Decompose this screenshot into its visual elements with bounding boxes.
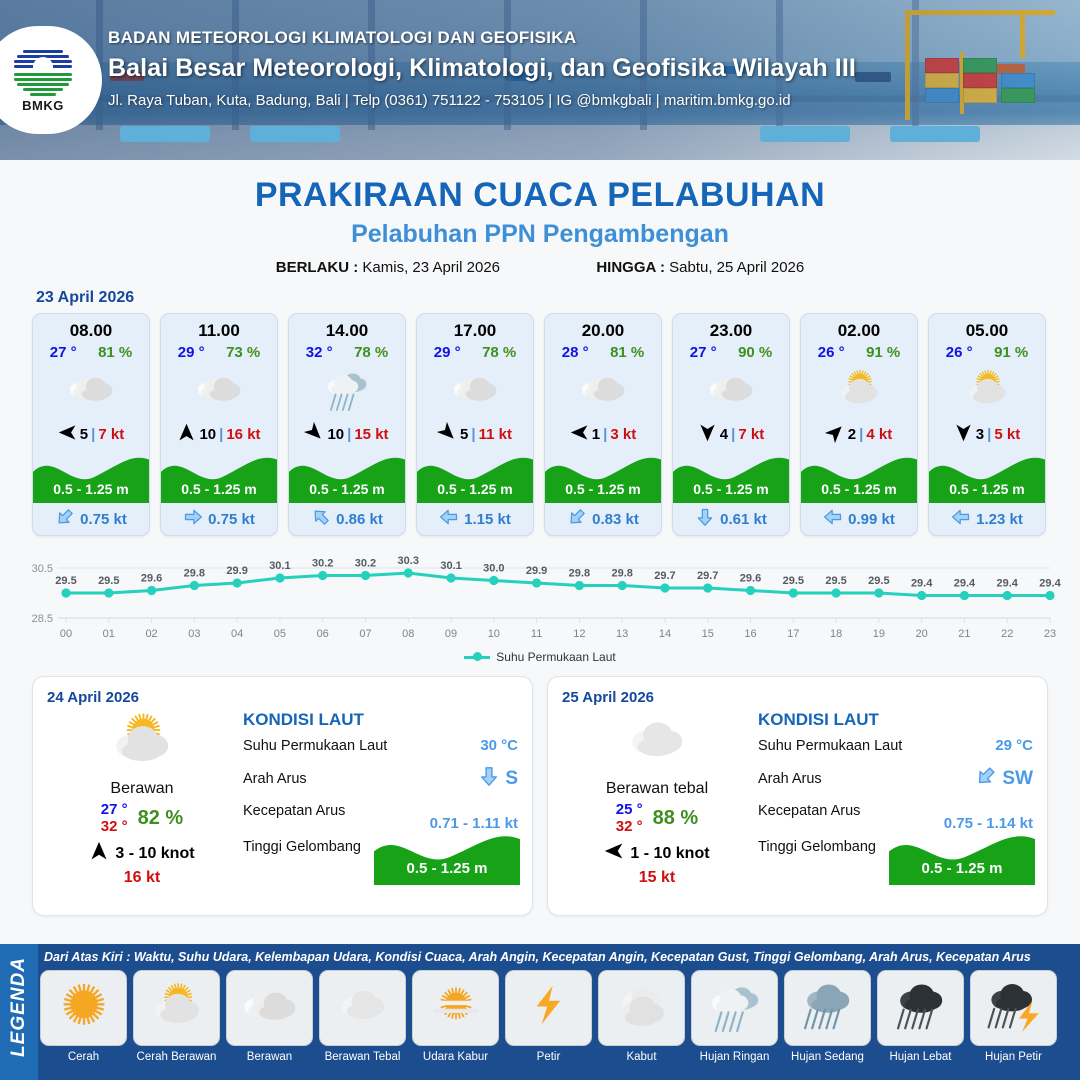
svg-text:10: 10 <box>488 628 500 640</box>
svg-text:30.3: 30.3 <box>398 555 419 567</box>
card-temp-humidity-row: 26 ° 91 % <box>929 341 1045 361</box>
wind-speed: 5 <box>80 426 88 443</box>
legend-sidebar-title: LEGENDA <box>8 952 30 1062</box>
day-summary: Berawan tebal 25 ° 32 ° 88 % 1 - 10 knot… <box>562 710 752 887</box>
svg-text:29.7: 29.7 <box>697 570 718 582</box>
current-speed: 1.23 kt <box>976 511 1023 528</box>
wind-speed: 3 <box>976 426 984 443</box>
bmkg-logo-mark <box>14 48 72 96</box>
card-current-row: 0.86 kt <box>289 503 405 535</box>
forecast-card[interactable]: 20.00 28 ° 81 % 1 | 3 kt 0.5 - 1.25 m <box>544 313 662 536</box>
weather-berawan-icon <box>545 363 661 419</box>
current-direction-value-group: SW <box>975 765 1033 792</box>
day-date: 25 April 2026 <box>562 689 1033 706</box>
legend-hujan-lebat-icon <box>877 970 964 1046</box>
sea-condition-block: KONDISI LAUT Suhu Permukaan Laut 29 °C A… <box>752 710 1033 887</box>
day-temp-min: 25 ° <box>616 801 643 818</box>
legend-item-label: Berawan Tebal <box>319 1051 406 1063</box>
day-condition: Berawan <box>47 780 237 798</box>
card-humidity: 78 % <box>482 344 516 361</box>
wind-gust-separator: | <box>987 426 991 443</box>
day-temperature-block: 25 ° 32 ° 88 % <box>562 801 752 835</box>
svg-text:17: 17 <box>787 628 799 640</box>
current-direction-S-icon <box>695 507 715 531</box>
current-speed: 0.83 kt <box>592 511 639 528</box>
wave-height: 0.5 - 1.25 m <box>929 481 1045 497</box>
legend-item: Udara Kabur <box>412 970 499 1063</box>
card-temperature: 26 ° <box>946 344 973 361</box>
current-speed-label: Kecepatan Arus <box>243 803 345 819</box>
wave-label: Tinggi Gelombang <box>243 839 361 855</box>
weather-cerah-berawan-icon <box>47 710 237 776</box>
card-wind-row: 1 | 3 kt <box>545 419 661 449</box>
svg-text:29.5: 29.5 <box>98 575 119 587</box>
terminal-seat <box>890 126 980 142</box>
sea-condition-title: KONDISI LAUT <box>758 710 1033 730</box>
legend-sidebar: LEGENDA <box>0 944 38 1080</box>
svg-text:20: 20 <box>916 628 928 640</box>
card-temp-humidity-row: 27 ° 90 % <box>673 341 789 361</box>
forecast-card[interactable]: 14.00 32 ° 78 % 10 | 15 kt 0.5 - 1.25 m <box>288 313 406 536</box>
day-temperature-block: 27 ° 32 ° 82 % <box>47 801 237 835</box>
svg-text:29.6: 29.6 <box>740 573 761 585</box>
legend-berawan-tebal-icon <box>319 970 406 1046</box>
card-wind-row: 10 | 16 kt <box>161 419 277 449</box>
wind-gust-separator: | <box>347 426 351 443</box>
legend-berawan-icon <box>226 970 313 1046</box>
current-direction-SW-icon <box>975 765 997 792</box>
legend-footer: LEGENDA Dari Atas Kiri : Waktu, Suhu Uda… <box>0 944 1080 1080</box>
day-summary: Berawan 27 ° 32 ° 82 % 3 - 10 knot 16 kt <box>47 710 237 887</box>
legend-item-label: Udara Kabur <box>412 1051 499 1063</box>
contact-info: Jl. Raya Tuban, Kuta, Badung, Bali | Tel… <box>108 92 856 109</box>
svg-text:30.2: 30.2 <box>355 558 376 570</box>
card-temperature: 29 ° <box>178 344 205 361</box>
bmkg-logo-text: BMKG <box>22 98 64 113</box>
legend-item-label: Cerah Berawan <box>133 1051 220 1063</box>
svg-text:04: 04 <box>231 628 243 640</box>
svg-text:29.9: 29.9 <box>526 565 547 577</box>
forecast-card[interactable]: 05.00 26 ° 91 % 3 | 5 kt 0.5 - 1.25 m 1.… <box>928 313 1046 536</box>
svg-text:29.4: 29.4 <box>997 578 1019 590</box>
current-direction-row: Arah Arus S <box>243 765 518 792</box>
card-temperature: 32 ° <box>306 344 333 361</box>
legend-item-label: Cerah <box>40 1051 127 1063</box>
legend-item-label: Hujan Ringan <box>691 1051 778 1063</box>
current-direction-SW-icon <box>567 507 587 531</box>
svg-text:29.5: 29.5 <box>825 575 846 587</box>
legend-item: Cerah Berawan <box>133 970 220 1063</box>
card-current-row: 0.75 kt <box>161 503 277 535</box>
card-wave-block: 0.5 - 1.25 m <box>801 451 917 503</box>
day-date: 24 April 2026 <box>47 689 518 706</box>
current-speed: 0.99 kt <box>848 511 895 528</box>
sst-value: 30 °C <box>480 737 518 754</box>
current-speed: 0.75 kt <box>208 511 255 528</box>
wind-direction-W-icon <box>570 423 589 446</box>
wave-height: 0.5 - 1.25 m <box>801 481 917 497</box>
current-direction-W-icon <box>823 507 843 531</box>
svg-text:22: 22 <box>1001 628 1013 640</box>
card-time: 02.00 <box>801 314 917 341</box>
svg-text:30.1: 30.1 <box>269 560 290 572</box>
sst-label: Suhu Permukaan Laut <box>243 738 387 754</box>
sst-chart-svg: 30.528.500010203040506070809101112131415… <box>18 546 1062 646</box>
wind-direction-S-icon <box>698 423 717 446</box>
sea-condition-title: KONDISI LAUT <box>243 710 518 730</box>
forecast-card[interactable]: 17.00 29 ° 78 % 5 | 11 kt 0.5 - 1.25 m <box>416 313 534 536</box>
chart-legend-marker-icon <box>464 656 490 659</box>
svg-text:03: 03 <box>188 628 200 640</box>
wind-gust: 3 kt <box>610 426 636 443</box>
card-current-row: 0.83 kt <box>545 503 661 535</box>
wind-gust-separator: | <box>471 426 475 443</box>
wave-height: 0.5 - 1.25 m <box>161 481 277 497</box>
forecast-card[interactable]: 02.00 26 ° 91 % 2 | 4 kt 0.5 - 1.25 m 0.… <box>800 313 918 536</box>
wind-speed: 10 <box>199 426 216 443</box>
forecast-card[interactable]: 23.00 27 ° 90 % 4 | 7 kt 0.5 - 1.25 m <box>672 313 790 536</box>
legend-cerah-icon <box>40 970 127 1046</box>
svg-text:14: 14 <box>659 628 671 640</box>
card-current-row: 0.99 kt <box>801 503 917 535</box>
card-humidity: 73 % <box>226 344 260 361</box>
day-temp-column: 25 ° 32 ° <box>616 801 643 835</box>
wave-height: 0.5 - 1.25 m <box>545 481 661 497</box>
card-current-row: 0.61 kt <box>673 503 789 535</box>
page-header: BMKG BADAN METEOROLOGI KLIMATOLOGI DAN G… <box>0 0 1080 160</box>
legend-note: Dari Atas Kiri : Waktu, Suhu Udara, Kele… <box>44 950 1031 964</box>
port-name: Pelabuhan PPN Pengambengan <box>0 220 1080 249</box>
svg-text:29.5: 29.5 <box>55 575 76 587</box>
current-direction-label: Arah Arus <box>243 771 307 787</box>
wind-gust-separator: | <box>859 426 863 443</box>
wind-direction-S-icon <box>954 423 973 446</box>
svg-text:29.4: 29.4 <box>1039 578 1061 590</box>
svg-text:29.8: 29.8 <box>184 568 205 580</box>
day-wind-gust: 16 kt <box>47 869 237 887</box>
card-time: 20.00 <box>545 314 661 341</box>
wind-gust: 15 kt <box>354 426 388 443</box>
card-temperature: 27 ° <box>50 344 77 361</box>
day-temp-min: 27 ° <box>101 801 128 818</box>
legend-item-label: Hujan Sedang <box>784 1051 871 1063</box>
sst-chart: 30.528.500010203040506070809101112131415… <box>18 546 1062 646</box>
daily-forecast-panels: 24 April 2026 Berawan 27 ° 32 ° 82 % <box>0 664 1080 916</box>
chart-legend-label: Suhu Permukaan Laut <box>496 650 615 664</box>
legend-item-label: Kabut <box>598 1051 685 1063</box>
wind-gust-separator: | <box>219 426 223 443</box>
wind-gust: 4 kt <box>866 426 892 443</box>
legend-item: Berawan <box>226 970 313 1063</box>
svg-text:13: 13 <box>616 628 628 640</box>
legend-udara-kabur-icon <box>412 970 499 1046</box>
day-wind-row: 3 - 10 knot <box>47 841 237 866</box>
card-temp-humidity-row: 28 ° 81 % <box>545 341 661 361</box>
svg-text:18: 18 <box>830 628 842 640</box>
weather-berawan-icon <box>161 363 277 419</box>
current-direction-value: S <box>505 768 518 790</box>
current-direction-row: Arah Arus SW <box>758 765 1033 792</box>
legend-item: Petir <box>505 970 592 1063</box>
card-time: 11.00 <box>161 314 277 341</box>
card-temp-humidity-row: 32 ° 78 % <box>289 341 405 361</box>
svg-text:02: 02 <box>145 628 157 640</box>
wind-speed: 10 <box>327 426 344 443</box>
weather-berawan-icon <box>33 363 149 419</box>
legend-item-label: Petir <box>505 1051 592 1063</box>
current-direction-W-icon <box>439 507 459 531</box>
page-title: PRAKIRAAN CUACA PELABUHAN <box>0 176 1080 215</box>
sst-row: Suhu Permukaan Laut 29 °C <box>758 737 1033 754</box>
day-temp-column: 27 ° 32 ° <box>101 801 128 835</box>
sst-label: Suhu Permukaan Laut <box>758 738 902 754</box>
berlaku-label: BERLAKU : <box>276 259 359 276</box>
wave-height: 0.5 - 1.25 m <box>33 481 149 497</box>
svg-text:01: 01 <box>103 628 115 640</box>
day-wind-gust: 15 kt <box>562 869 752 887</box>
legend-cerah-berawan-icon <box>133 970 220 1046</box>
svg-text:29.8: 29.8 <box>611 568 632 580</box>
sst-value: 29 °C <box>995 737 1033 754</box>
wind-gust: 5 kt <box>994 426 1020 443</box>
validity-row: BERLAKU : Kamis, 23 April 2026 HINGGA : … <box>0 259 1080 276</box>
legend-item: Hujan Lebat <box>877 970 964 1063</box>
card-humidity: 91 % <box>866 344 900 361</box>
card-wind-row: 10 | 15 kt <box>289 419 405 449</box>
card-temperature: 29 ° <box>434 344 461 361</box>
card-temperature: 27 ° <box>690 344 717 361</box>
day-wave-block: 0.5 - 1.25 m <box>889 829 1035 885</box>
card-wave-block: 0.5 - 1.25 m <box>33 451 149 503</box>
day-wind-row: 1 - 10 knot <box>562 841 752 866</box>
current-direction-value-group: S <box>478 765 518 792</box>
wind-speed: 5 <box>460 426 468 443</box>
wind-direction-W-icon <box>604 841 624 866</box>
current-speed: 0.86 kt <box>336 511 383 528</box>
legend-item: Berawan Tebal <box>319 970 406 1063</box>
card-time: 08.00 <box>33 314 149 341</box>
wind-gust: 11 kt <box>479 426 512 443</box>
wind-gust: 16 kt <box>226 426 260 443</box>
svg-text:07: 07 <box>359 628 371 640</box>
legend-item: Kabut <box>598 970 685 1063</box>
weather-berawan-tebal-icon <box>562 710 752 776</box>
svg-text:00: 00 <box>60 628 72 640</box>
current-direction-label: Arah Arus <box>758 771 822 787</box>
legend-item-label: Berawan <box>226 1051 313 1063</box>
header-text-block: BADAN METEOROLOGI KLIMATOLOGI DAN GEOFIS… <box>108 28 856 109</box>
forecast-card[interactable]: 11.00 29 ° 73 % 10 | 16 kt 0.5 - 1.25 m <box>160 313 278 536</box>
weather-berawan-icon <box>673 363 789 419</box>
wind-speed: 4 <box>720 426 728 443</box>
legend-item: Cerah <box>40 970 127 1063</box>
current-speed: 0.75 kt <box>80 511 127 528</box>
svg-text:16: 16 <box>744 628 756 640</box>
wind-gust-separator: | <box>91 426 95 443</box>
legend-hujan-ringan-icon <box>691 970 778 1046</box>
svg-text:29.7: 29.7 <box>654 570 675 582</box>
legend-item-label: Hujan Petir <box>970 1051 1057 1063</box>
sea-condition-block: KONDISI LAUT Suhu Permukaan Laut 30 °C A… <box>237 710 518 887</box>
card-humidity: 90 % <box>738 344 772 361</box>
card-humidity: 81 % <box>610 344 644 361</box>
current-speed: 0.61 kt <box>720 511 767 528</box>
berlaku-value: Kamis, 23 April 2026 <box>362 259 500 276</box>
svg-text:06: 06 <box>317 628 329 640</box>
card-wave-block: 0.5 - 1.25 m <box>161 451 277 503</box>
svg-text:29.8: 29.8 <box>569 568 590 580</box>
svg-text:11: 11 <box>531 628 542 640</box>
legend-hujan-sedang-icon <box>784 970 871 1046</box>
legend-item-list: Cerah Cerah Berawan Berawan Berawan Teba… <box>40 970 1080 1063</box>
weather-berawan-icon <box>417 363 533 419</box>
day-wave-block: 0.5 - 1.25 m <box>374 829 520 885</box>
wind-gust: 7 kt <box>738 426 764 443</box>
card-wave-block: 0.5 - 1.25 m <box>289 451 405 503</box>
forecast-card[interactable]: 08.00 27 ° 81 % 5 | 7 kt 0.5 - 1.25 m <box>32 313 150 536</box>
wave-label: Tinggi Gelombang <box>758 839 876 855</box>
day-temp-max: 32 ° <box>616 818 643 835</box>
day-body: Berawan tebal 25 ° 32 ° 88 % 1 - 10 knot… <box>562 710 1033 887</box>
wind-direction-N-icon <box>89 841 109 866</box>
wind-gust: 7 kt <box>98 426 124 443</box>
day-wind-range: 3 - 10 knot <box>115 845 194 863</box>
svg-text:29.6: 29.6 <box>141 573 162 585</box>
card-wave-block: 0.5 - 1.25 m <box>673 451 789 503</box>
wind-direction-NE-icon <box>826 423 845 446</box>
day-humidity: 82 % <box>138 807 184 830</box>
sst-row: Suhu Permukaan Laut 30 °C <box>243 737 518 754</box>
chart-legend: Suhu Permukaan Laut <box>0 650 1080 664</box>
card-current-row: 1.15 kt <box>417 503 533 535</box>
wave-height: 0.5 - 1.25 m <box>673 481 789 497</box>
card-time: 17.00 <box>417 314 533 341</box>
svg-text:29.5: 29.5 <box>868 575 889 587</box>
card-humidity: 81 % <box>98 344 132 361</box>
card-wave-block: 0.5 - 1.25 m <box>929 451 1045 503</box>
card-humidity: 78 % <box>354 344 388 361</box>
weather-cerah-berawan-icon <box>929 363 1045 419</box>
legend-kabut-icon <box>598 970 685 1046</box>
legend-item-label: Hujan Lebat <box>877 1051 964 1063</box>
svg-text:19: 19 <box>873 628 885 640</box>
svg-text:28.5: 28.5 <box>32 613 53 625</box>
card-current-row: 1.23 kt <box>929 503 1045 535</box>
card-current-row: 0.75 kt <box>33 503 149 535</box>
wind-direction-SE-icon <box>305 423 324 446</box>
card-humidity: 91 % <box>994 344 1028 361</box>
card-time: 23.00 <box>673 314 789 341</box>
day-temp-max: 32 ° <box>101 818 128 835</box>
card-time: 14.00 <box>289 314 405 341</box>
card-temp-humidity-row: 27 ° 81 % <box>33 341 149 361</box>
wind-direction-SE-icon <box>438 423 457 446</box>
wave-height: 0.5 - 1.25 m <box>289 481 405 497</box>
hingga-value: Sabtu, 25 April 2026 <box>669 259 804 276</box>
svg-text:08: 08 <box>402 628 414 640</box>
current-speed-label: Kecepatan Arus <box>758 803 860 819</box>
card-wave-block: 0.5 - 1.25 m <box>545 451 661 503</box>
day-forecast-panel[interactable]: 25 April 2026 Berawan tebal 25 ° 32 ° 88… <box>547 676 1048 916</box>
office-name: Balai Besar Meteorologi, Klimatologi, da… <box>108 54 856 83</box>
svg-text:23: 23 <box>1044 628 1056 640</box>
svg-text:29.4: 29.4 <box>911 578 933 590</box>
svg-text:21: 21 <box>958 628 970 640</box>
wind-direction-W-icon <box>58 423 77 446</box>
day-condition: Berawan tebal <box>562 780 752 798</box>
card-wind-row: 5 | 7 kt <box>33 419 149 449</box>
legend-petir-icon <box>505 970 592 1046</box>
svg-text:05: 05 <box>274 628 286 640</box>
terminal-seat <box>760 126 850 142</box>
forecast-card-list: 08.00 27 ° 81 % 5 | 7 kt 0.5 - 1.25 m <box>0 313 1080 536</box>
current-direction-value: SW <box>1002 768 1033 790</box>
wind-direction-N-icon <box>177 423 196 446</box>
legend-item: Hujan Sedang <box>784 970 871 1063</box>
current-direction-W-icon <box>951 507 971 531</box>
forecast-date-label: 23 April 2026 <box>36 289 1080 307</box>
card-temperature: 28 ° <box>562 344 589 361</box>
current-direction-S-icon <box>478 765 500 792</box>
wind-gust-separator: | <box>731 426 735 443</box>
legend-hujan-petir-icon <box>970 970 1057 1046</box>
weather-cerah-berawan-icon <box>801 363 917 419</box>
day-body: Berawan 27 ° 32 ° 82 % 3 - 10 knot 16 kt… <box>47 710 518 887</box>
card-temp-humidity-row: 29 ° 73 % <box>161 341 277 361</box>
day-wind-range: 1 - 10 knot <box>630 845 709 863</box>
wind-speed: 1 <box>592 426 600 443</box>
wind-gust-separator: | <box>603 426 607 443</box>
svg-text:30.0: 30.0 <box>483 563 504 575</box>
wave-height-value: 0.5 - 1.25 m <box>374 860 520 877</box>
card-temp-humidity-row: 26 ° 91 % <box>801 341 917 361</box>
svg-text:12: 12 <box>573 628 585 640</box>
terminal-seat <box>250 126 340 142</box>
card-temperature: 26 ° <box>818 344 845 361</box>
current-direction-NW-icon <box>311 507 331 531</box>
wave-height: 0.5 - 1.25 m <box>417 481 533 497</box>
weather-hujan-ringan-icon <box>289 363 405 419</box>
card-time: 05.00 <box>929 314 1045 341</box>
svg-text:30.2: 30.2 <box>312 558 333 570</box>
svg-text:30.1: 30.1 <box>440 560 461 572</box>
day-humidity: 88 % <box>653 807 699 830</box>
card-wind-row: 3 | 5 kt <box>929 419 1045 449</box>
card-wave-block: 0.5 - 1.25 m <box>417 451 533 503</box>
agency-name: BADAN METEOROLOGI KLIMATOLOGI DAN GEOFIS… <box>108 28 856 48</box>
current-direction-SW-icon <box>55 507 75 531</box>
day-forecast-panel[interactable]: 24 April 2026 Berawan 27 ° 32 ° 82 % <box>32 676 533 916</box>
card-wind-row: 5 | 11 kt <box>417 419 533 449</box>
terminal-seat <box>120 126 210 142</box>
card-wind-row: 4 | 7 kt <box>673 419 789 449</box>
legend-item: Hujan Petir <box>970 970 1057 1063</box>
current-speed: 1.15 kt <box>464 511 511 528</box>
svg-text:29.9: 29.9 <box>226 565 247 577</box>
legend-item: Hujan Ringan <box>691 970 778 1063</box>
card-wind-row: 2 | 4 kt <box>801 419 917 449</box>
title-block: PRAKIRAAN CUACA PELABUHAN Pelabuhan PPN … <box>0 160 1080 276</box>
current-direction-E-icon <box>183 507 203 531</box>
hingga-label: HINGGA : <box>596 259 665 276</box>
card-temp-humidity-row: 29 ° 78 % <box>417 341 533 361</box>
svg-text:09: 09 <box>445 628 457 640</box>
wave-height-value: 0.5 - 1.25 m <box>889 860 1035 877</box>
svg-text:15: 15 <box>702 628 714 640</box>
svg-text:30.5: 30.5 <box>32 563 53 575</box>
wind-speed: 2 <box>848 426 856 443</box>
svg-text:29.5: 29.5 <box>783 575 804 587</box>
